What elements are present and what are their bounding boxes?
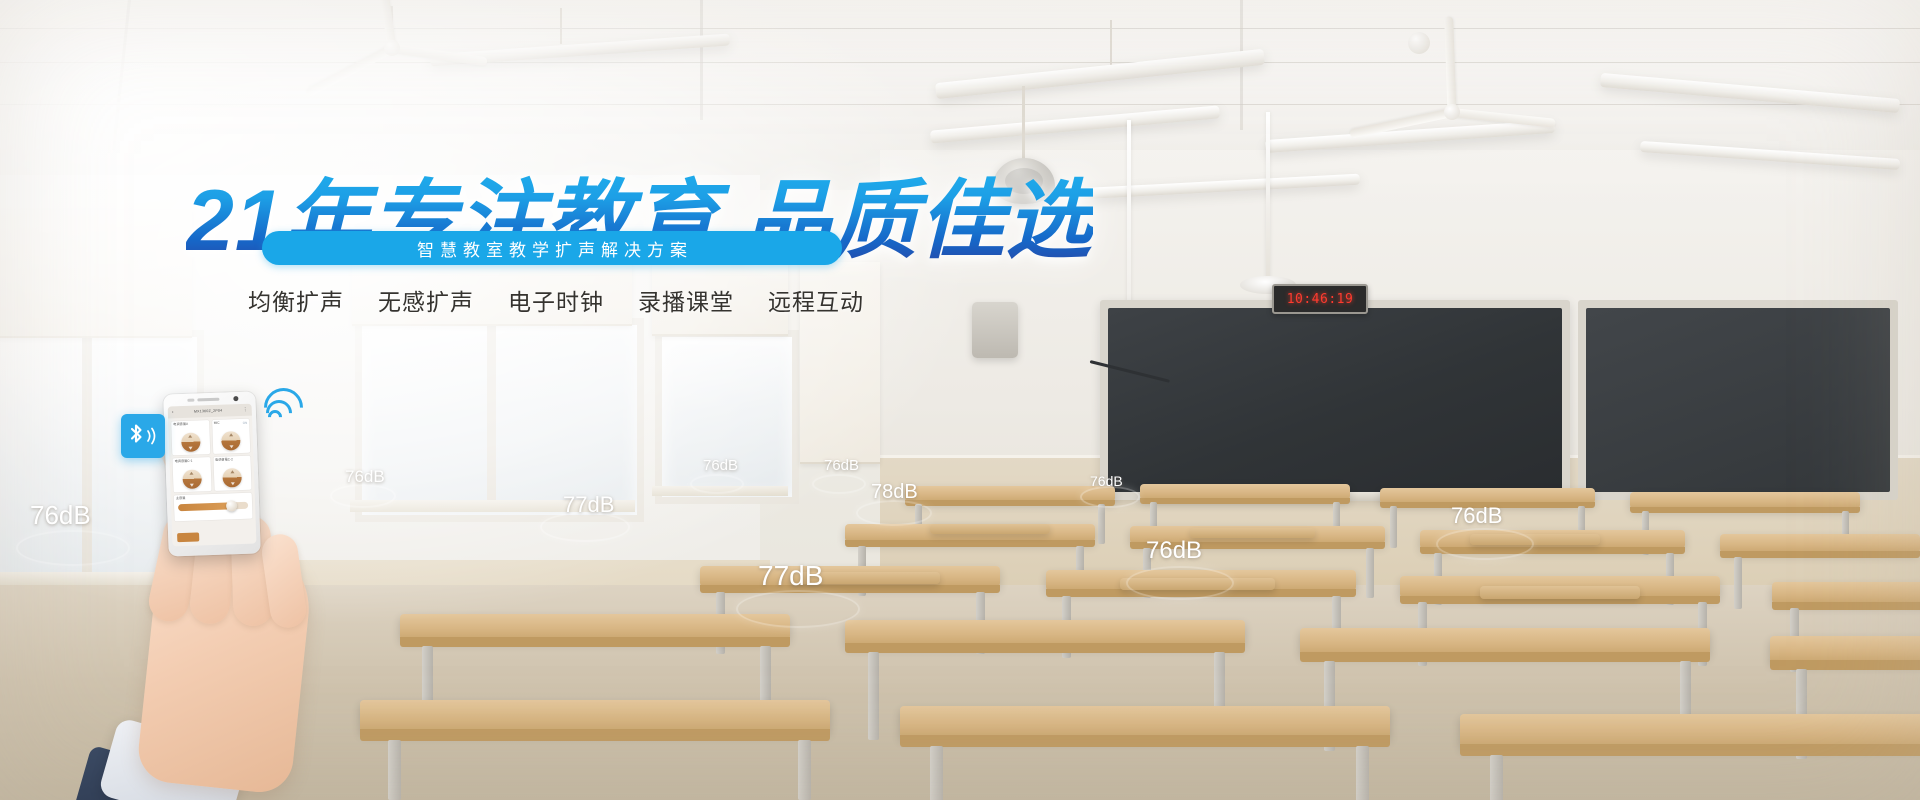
window-mullion bbox=[487, 318, 496, 508]
clock-time: 10:46:19 bbox=[1287, 292, 1354, 307]
db-label: 76dB bbox=[703, 457, 738, 474]
wall-speaker bbox=[972, 302, 1018, 358]
window-blind bbox=[0, 210, 192, 338]
fan-mount bbox=[1408, 32, 1430, 54]
ceiling-line bbox=[0, 104, 1920, 105]
control-card-label: 电调音量C-2 bbox=[215, 458, 249, 463]
wifi-signal-icon bbox=[266, 384, 312, 430]
db-label: 77dB bbox=[758, 560, 823, 592]
sound-ripple bbox=[812, 474, 866, 494]
db-label: 77dB bbox=[563, 492, 614, 518]
subtitle-text: 智慧教室教学扩声解决方案 bbox=[411, 236, 693, 261]
volume-knob[interactable] bbox=[181, 432, 201, 452]
smartphone[interactable]: ‹ MX1360Z_2P04 ⋮ 电调音量AMICON电调音量C-1电调音量C-… bbox=[163, 391, 261, 556]
feature-item: 远程互动 bbox=[768, 283, 864, 317]
blackboard bbox=[1108, 308, 1562, 492]
control-card-label: 电调音量C-1 bbox=[174, 459, 208, 464]
feature-item: 均衡扩声 bbox=[248, 283, 344, 317]
control-card-grid: 电调音量AMICON电调音量C-1电调音量C-2 bbox=[168, 416, 255, 496]
sound-ripple bbox=[1436, 528, 1534, 560]
subtitle-pill: 智慧教室教学扩声解决方案 bbox=[262, 231, 842, 265]
app-title: MX1360Z_2P04 bbox=[194, 409, 222, 414]
feature-list: 均衡扩声无感扩声电子时钟录播课堂远程互动 bbox=[248, 283, 864, 317]
primary-action-button[interactable] bbox=[177, 532, 199, 542]
chevron-left-icon[interactable]: ‹ bbox=[172, 410, 174, 415]
chair bbox=[930, 524, 1050, 534]
volume-knob[interactable] bbox=[182, 469, 202, 489]
sound-ripple bbox=[736, 590, 860, 628]
control-card-label: 电调音量A bbox=[173, 422, 207, 427]
db-label: 76dB bbox=[824, 457, 859, 474]
banner-stage: 10:46:19 bbox=[0, 0, 1920, 800]
db-label: 76dB bbox=[1090, 473, 1123, 489]
volume-slider-track[interactable] bbox=[178, 502, 248, 511]
control-card[interactable]: MICON bbox=[212, 419, 251, 454]
bluetooth-signal-icon bbox=[121, 414, 165, 458]
speaker-rod bbox=[1022, 86, 1025, 160]
sound-ripple bbox=[16, 530, 130, 566]
master-volume-card[interactable]: 主音量 bbox=[174, 493, 253, 522]
volume-slider-handle[interactable] bbox=[226, 500, 237, 511]
lamp-rod bbox=[560, 8, 562, 44]
db-label: 76dB bbox=[1146, 537, 1202, 565]
ceiling-line bbox=[0, 28, 1920, 29]
more-vertical-icon[interactable]: ⋮ bbox=[243, 407, 248, 412]
sound-ripple bbox=[1126, 566, 1234, 600]
db-label: 78dB bbox=[871, 481, 918, 504]
volume-knob[interactable] bbox=[221, 431, 241, 451]
blackboard-right bbox=[1586, 308, 1890, 492]
chair bbox=[1190, 528, 1315, 538]
feature-item: 录播课堂 bbox=[638, 283, 734, 317]
master-volume-area: 主音量 bbox=[171, 493, 256, 525]
control-card[interactable]: 电调音量C-2 bbox=[213, 456, 252, 491]
lamp-rod bbox=[1110, 20, 1112, 68]
feature-item: 无感扩声 bbox=[378, 283, 474, 317]
master-volume-label: 主音量 bbox=[176, 495, 250, 501]
db-label: 76dB bbox=[30, 500, 91, 531]
db-label: 76dB bbox=[345, 467, 385, 487]
ceiling-line bbox=[0, 62, 1920, 63]
db-label: 76dB bbox=[1451, 503, 1502, 529]
feature-item: 电子时钟 bbox=[508, 283, 604, 317]
control-card[interactable]: 电调音量A bbox=[171, 420, 210, 455]
sound-ripple bbox=[690, 474, 744, 494]
sound-ripple bbox=[1080, 486, 1140, 508]
proximity-sensor bbox=[187, 399, 194, 402]
control-card[interactable]: 电调音量C-1 bbox=[172, 457, 211, 492]
control-card-badge: ON bbox=[243, 421, 248, 425]
ceiling-seam bbox=[700, 0, 703, 120]
volume-knob[interactable] bbox=[223, 468, 243, 488]
phone-screen[interactable]: ‹ MX1360Z_2P04 ⋮ 电调音量AMICON电调音量C-1电调音量C-… bbox=[168, 404, 257, 547]
chair bbox=[1480, 586, 1640, 599]
led-clock: 10:46:19 bbox=[1272, 284, 1368, 314]
microphone-pole bbox=[1266, 112, 1270, 280]
